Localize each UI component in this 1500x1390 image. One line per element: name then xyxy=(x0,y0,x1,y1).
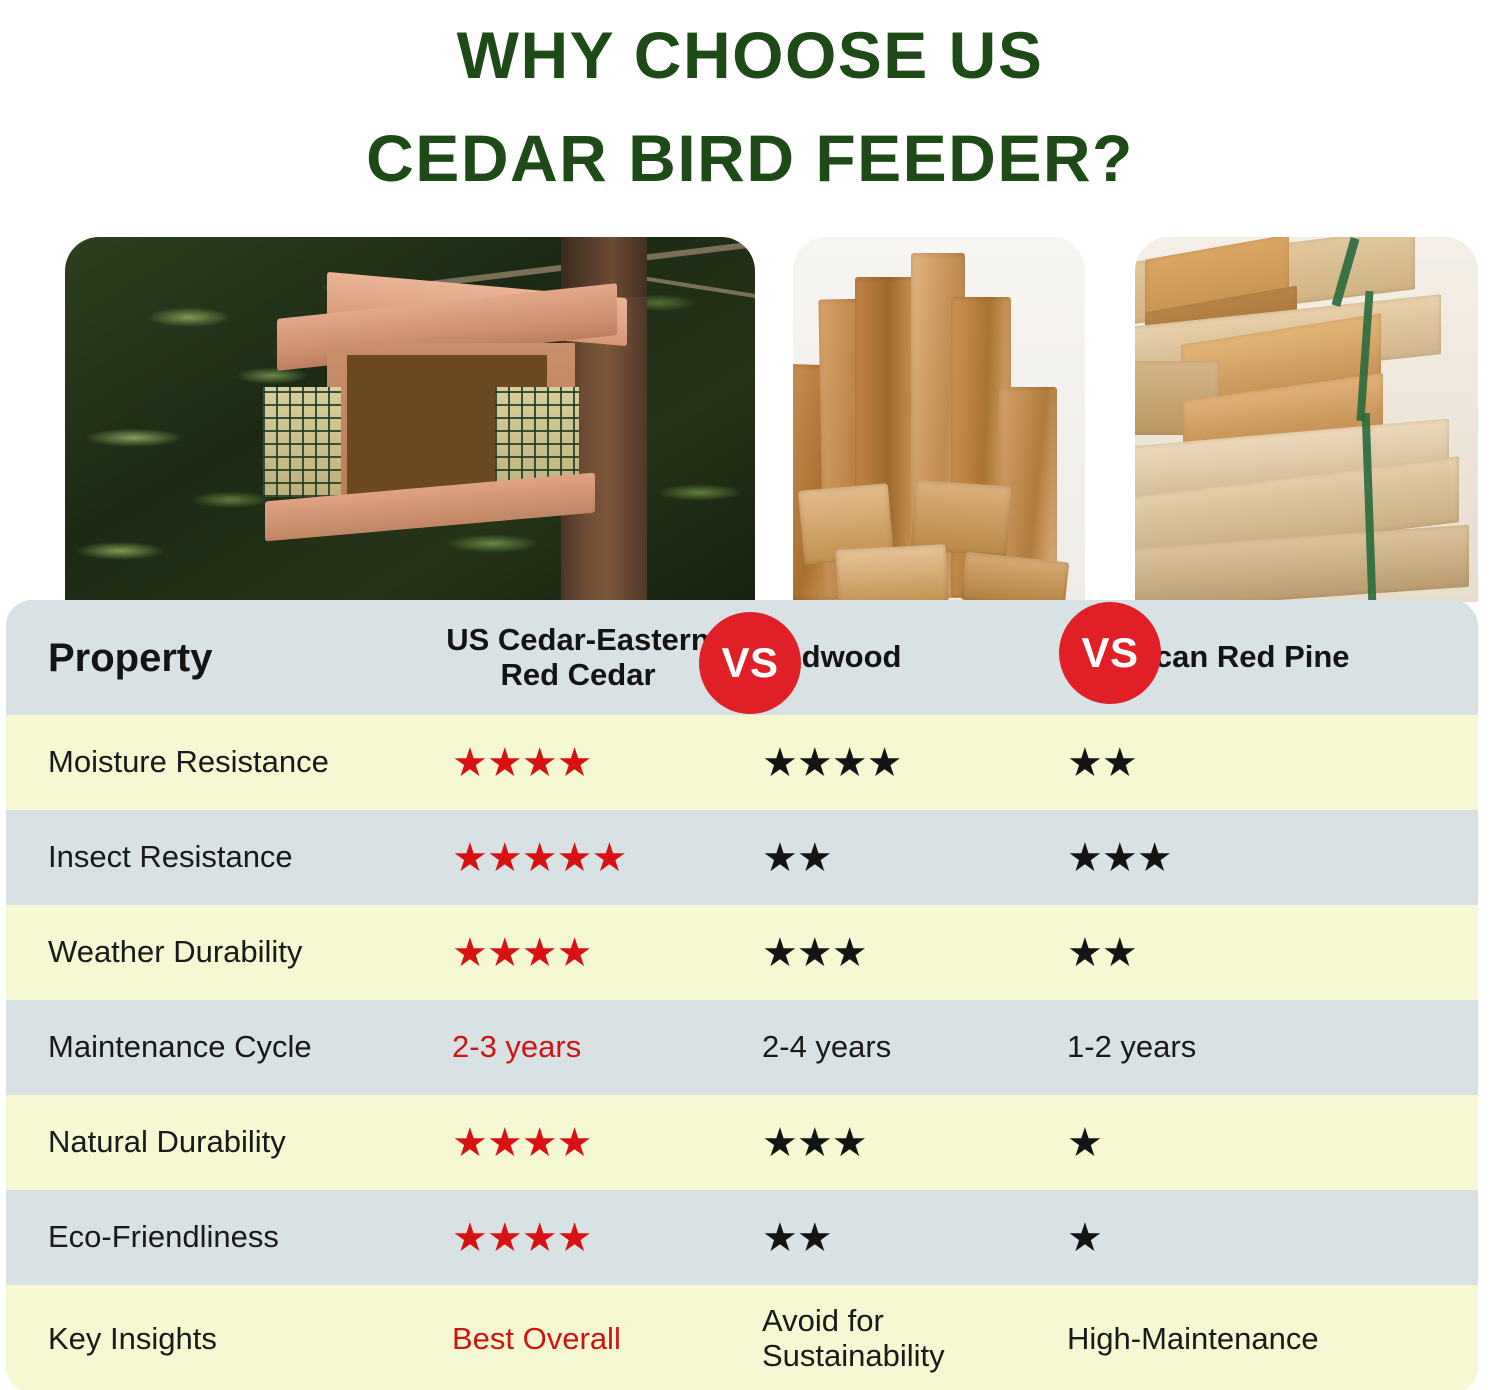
row-property-cell: Natural Durability xyxy=(6,1125,406,1160)
row-redwood-cell: ★★★★ xyxy=(736,743,1036,783)
table-row: Key Insights Best Overall Avoid for Sust… xyxy=(6,1285,1478,1390)
header-cedar-line-2: Red Cedar xyxy=(436,658,720,692)
cell-value-pine: 1-2 years xyxy=(1067,1030,1476,1065)
star-rating-redwood: ★★★ xyxy=(762,933,869,973)
infographic-page: WHY CHOOSE US CEDAR BIRD FEEDER? xyxy=(0,0,1500,1390)
cell-value-redwood: 2-4 years xyxy=(762,1030,1036,1065)
row-pine-cell: ★★ xyxy=(1036,933,1476,973)
cell-value-pine: High-Maintenance xyxy=(1067,1322,1476,1357)
row-property-label: Insect Resistance xyxy=(48,840,406,875)
cedar-bird-feeder-photo xyxy=(65,237,755,602)
star-rating-cedar: ★★★★ xyxy=(452,1123,593,1163)
title-line-1: WHY CHOOSE US xyxy=(0,4,1500,107)
row-redwood-cell: ★★★ xyxy=(736,933,1036,973)
row-property-cell: Eco-Friendliness xyxy=(6,1220,406,1255)
row-pine-cell: 1-2 years xyxy=(1036,1030,1476,1065)
row-property-cell: Moisture Resistance xyxy=(6,745,406,780)
row-cedar-cell: ★★★★ xyxy=(406,933,736,973)
page-title: WHY CHOOSE US CEDAR BIRD FEEDER? xyxy=(0,4,1500,210)
cell-value-cedar: 2-3 years xyxy=(452,1030,736,1065)
star-rating-redwood: ★★ xyxy=(762,838,834,878)
row-redwood-cell: Avoid for Sustainability xyxy=(736,1304,1036,1373)
header-cell-cedar: US Cedar-Eastern Red Cedar xyxy=(406,623,736,691)
row-cedar-cell: ★★★★ xyxy=(406,1218,736,1258)
row-property-label: Weather Durability xyxy=(48,935,406,970)
row-redwood-cell: 2-4 years xyxy=(736,1030,1036,1065)
star-rating-cedar: ★★★★ xyxy=(452,933,593,973)
star-rating-cedar: ★★★★ xyxy=(452,1218,593,1258)
star-rating-pine: ★ xyxy=(1067,1218,1104,1258)
row-pine-cell: High-Maintenance xyxy=(1036,1322,1476,1357)
row-property-cell: Maintenance Cycle xyxy=(6,1030,406,1065)
table-row: Eco-Friendliness ★★★★ ★★ ★ xyxy=(6,1190,1478,1285)
header-cell-property: Property xyxy=(6,636,406,680)
row-property-label: Key Insights xyxy=(48,1322,406,1357)
star-rating-redwood: ★★★★ xyxy=(762,743,903,783)
table-row: Weather Durability ★★★★ ★★★ ★★ xyxy=(6,905,1478,1000)
row-property-label: Eco-Friendliness xyxy=(48,1220,406,1255)
header-cedar-line-1: US Cedar-Eastern xyxy=(436,623,720,657)
star-rating-cedar: ★★★★ xyxy=(452,743,593,783)
header-cedar-label: US Cedar-Eastern Red Cedar xyxy=(436,623,720,691)
cell-value-cedar: Best Overall xyxy=(452,1322,736,1357)
row-pine-cell: ★★★ xyxy=(1036,838,1476,878)
row-cedar-cell: ★★★★ xyxy=(406,743,736,783)
row-property-cell: Key Insights xyxy=(6,1322,406,1357)
cell-value-redwood: Avoid for Sustainability xyxy=(762,1304,1036,1373)
vs-badge-2: VS xyxy=(1059,602,1161,704)
header-redwood-label: Redwood xyxy=(762,640,1036,674)
row-cedar-cell: Best Overall xyxy=(406,1322,736,1357)
row-property-cell: Weather Durability xyxy=(6,935,406,970)
row-cedar-cell: ★★★★ xyxy=(406,1123,736,1163)
star-rating-cedar: ★★★★★ xyxy=(452,838,628,878)
star-rating-pine: ★★ xyxy=(1067,933,1139,973)
star-rating-redwood: ★★★ xyxy=(762,1123,869,1163)
row-cedar-cell: ★★★★★ xyxy=(406,838,736,878)
vs-badge-1: VS xyxy=(699,612,801,714)
table-row: Natural Durability ★★★★ ★★★ ★ xyxy=(6,1095,1478,1190)
table-row: Insect Resistance ★★★★★ ★★ ★★★ xyxy=(6,810,1478,905)
row-property-cell: Insect Resistance xyxy=(6,840,406,875)
comparison-table: Property US Cedar-Eastern Red Cedar Redw… xyxy=(6,600,1478,1390)
star-rating-redwood: ★★ xyxy=(762,1218,834,1258)
table-row: Maintenance Cycle 2-3 years 2-4 years 1-… xyxy=(6,1000,1478,1095)
row-property-label: Maintenance Cycle xyxy=(48,1030,406,1065)
row-pine-cell: ★ xyxy=(1036,1123,1476,1163)
row-property-label: Natural Durability xyxy=(48,1125,406,1160)
title-line-2: CEDAR BIRD FEEDER? xyxy=(0,107,1500,210)
red-pine-lumber-photo xyxy=(1135,237,1478,602)
row-redwood-cell: ★★ xyxy=(736,1218,1036,1258)
header-property-label: Property xyxy=(48,636,406,680)
row-property-label: Moisture Resistance xyxy=(48,745,406,780)
star-rating-pine: ★★★ xyxy=(1067,838,1174,878)
star-rating-pine: ★★ xyxy=(1067,743,1139,783)
row-pine-cell: ★★ xyxy=(1036,743,1476,783)
comparison-image-strip: VS VS xyxy=(0,237,1500,602)
table-row: Moisture Resistance ★★★★ ★★★★ ★★ xyxy=(6,715,1478,810)
row-cedar-cell: 2-3 years xyxy=(406,1030,736,1065)
row-pine-cell: ★ xyxy=(1036,1218,1476,1258)
star-rating-pine: ★ xyxy=(1067,1123,1104,1163)
row-redwood-cell: ★★★ xyxy=(736,1123,1036,1163)
redwood-firewood-photo xyxy=(793,237,1085,602)
row-redwood-cell: ★★ xyxy=(736,838,1036,878)
